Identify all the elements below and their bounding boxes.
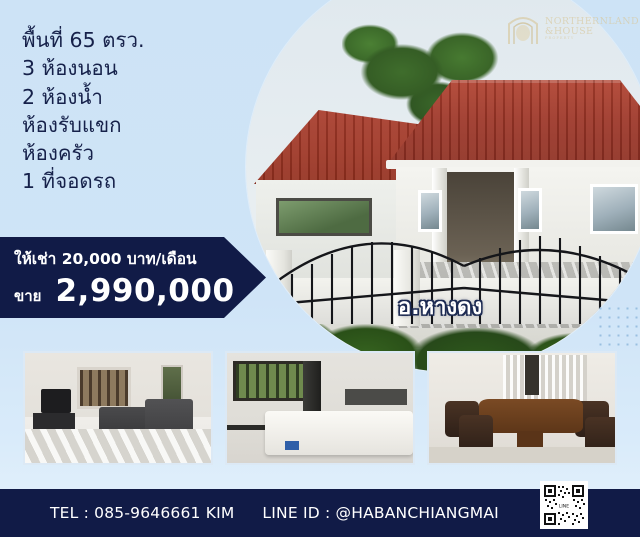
line-qr-code[interactable]: LINE [540, 481, 588, 529]
sale-price: ขาย 2,990,000 [14, 273, 235, 309]
mattress-tag [285, 441, 299, 450]
property-ad-poster: NORTHERNLAND &HOUSE PROPERTY พื้นที่ 65 … [0, 0, 640, 537]
brand-line-3: PROPERTY [545, 37, 639, 41]
tile-floor [429, 447, 615, 463]
living-room-scene [25, 353, 211, 463]
feature-item-bedrooms: 3 ห้องนอน [22, 54, 237, 82]
contact-details: TEL : 085-9646661 KIM LINE ID : @HABANCH… [50, 504, 499, 522]
feature-item-livingroom: ห้องรับแขก [22, 111, 237, 139]
window [77, 367, 131, 409]
dot-grid-decoration [594, 302, 638, 348]
sale-price-value: 2,990,000 [55, 273, 234, 309]
curtain [303, 361, 321, 417]
price-banner: ให้เช่า 20,000 บาท/เดือน ขาย 2,990,000 [0, 237, 266, 318]
dining-room-photo[interactable] [427, 351, 617, 465]
brand-logo: NORTHERNLAND &HOUSE PROPERTY [506, 8, 632, 50]
sale-price-label: ขาย [14, 284, 41, 308]
brand-logo-text: NORTHERNLAND &HOUSE PROPERTY [545, 17, 639, 41]
telephone-number[interactable]: TEL : 085-9646661 KIM [50, 504, 234, 522]
headboard [345, 389, 407, 405]
feature-item-area: พื้นที่ 65 ตรว. [22, 26, 237, 54]
tile-floor [25, 429, 211, 463]
feature-list: พื้นที่ 65 ตรว. 3 ห้องนอน 2 ห้องน้ำ ห้อง… [22, 26, 237, 196]
qr-center-label: LINE [559, 504, 569, 510]
rent-price: ให้เช่า 20,000 บาท/เดือน [14, 246, 197, 271]
bedroom-photo[interactable] [225, 351, 415, 465]
television [41, 389, 71, 413]
dining-chair [459, 415, 493, 451]
thumbnail-row [23, 351, 617, 465]
brand-line-2: &HOUSE [545, 27, 639, 37]
house-arch-logo-icon [506, 11, 540, 47]
bedroom-scene [227, 353, 413, 463]
window-gap [525, 355, 539, 395]
feature-item-parking: 1 ที่จอดรถ [22, 167, 237, 195]
contact-bar: TEL : 085-9646661 KIM LINE ID : @HABANCH… [0, 489, 640, 537]
feature-item-bathrooms: 2 ห้องน้ำ [22, 83, 237, 111]
line-id[interactable]: LINE ID : @HABANCHIANGMAI [262, 504, 499, 522]
dining-table [479, 399, 583, 433]
location-label: อ.หางดง [398, 289, 482, 324]
window [233, 361, 307, 401]
feature-item-kitchen: ห้องครัว [22, 139, 237, 167]
dining-room-scene [429, 353, 615, 463]
living-room-photo[interactable] [23, 351, 213, 465]
